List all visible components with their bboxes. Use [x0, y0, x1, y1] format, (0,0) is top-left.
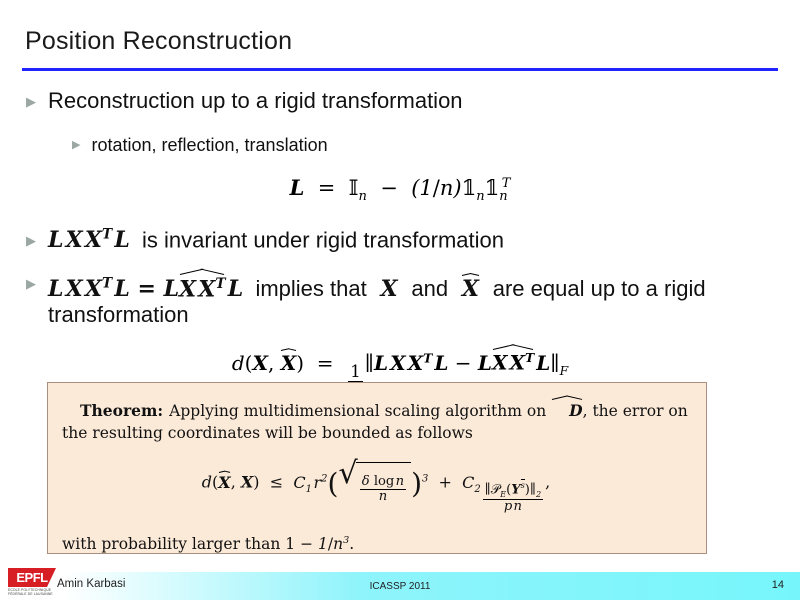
eq-distance-minus: − — [448, 351, 477, 375]
theorem-prob-part2: 1/n3 — [318, 535, 349, 553]
theorem-box: Theorem:Applying multidimensional scalin… — [47, 382, 707, 554]
eq-distance-xhat: X — [281, 351, 297, 375]
bullet-item-invariance: ▶ L X XT L is invariant under rigid tran… — [26, 227, 766, 253]
eq-laplacian-equals: = — [311, 176, 342, 200]
theorem-statement: Theorem:Applying multidimensional scalin… — [62, 396, 690, 444]
theorem-eq-r2: r2 — [313, 473, 327, 492]
theorem-statement-part1: Applying multidimensional scaling algori… — [169, 402, 546, 420]
bullet-item-reconstruction: ▶ Reconstruction up to a rigid transform… — [26, 88, 463, 114]
bullet-item-equality: ▶ L X XT L = LX XT L implies that X and … — [26, 270, 771, 328]
eq-distance-close: ) — [296, 351, 304, 375]
eq-distance-frobenius-sub: F — [560, 363, 569, 378]
theorem-equation: d(X, X) ≤ C1 r2(√δ log nn)3 + C2∥𝒫E(Ys)∥… — [62, 462, 690, 514]
theorem-eq-cube: 3 — [422, 473, 428, 484]
eq-distance-norm-close: ∥ — [550, 351, 559, 375]
eq-distance-term2: LX XT L — [478, 351, 550, 375]
theorem-eq-close: ) — [253, 473, 259, 492]
theorem-eq-fraction2: ∥𝒫E(Ys)∥2p n — [483, 479, 543, 514]
theorem-eq-xhat: X — [218, 473, 230, 492]
page-title: Position Reconstruction — [25, 27, 292, 56]
math-inline-xhat: X — [454, 276, 486, 302]
theorem-prob-minus: − — [300, 535, 313, 553]
theorem-eq-sqrt: √δ log nn — [338, 462, 411, 504]
theorem-label: Theorem: — [80, 401, 163, 420]
footer-page-number: 14 — [772, 579, 784, 591]
theorem-eq-paren-close: ) — [411, 467, 422, 500]
eq-laplacian-lhs: L — [290, 175, 305, 200]
theorem-eq-paren-open: ( — [327, 467, 338, 500]
theorem-symbol-dhat: D — [551, 401, 582, 420]
bullet-label-1: Reconstruction up to a rigid transformat… — [48, 88, 463, 114]
eq-laplacian-scale: (1/n) — [411, 176, 461, 200]
bullet-label-2: rotation, reflection, translation — [91, 135, 327, 156]
theorem-eq-plus: + — [433, 473, 457, 492]
theorem-probability-line: with probability larger than 1 − 1/n3. — [62, 534, 690, 554]
theorem-eq-leq: ≤ — [265, 473, 289, 492]
eq-laplacian-minus: − — [374, 176, 405, 200]
theorem-eq-trailing-comma: , — [545, 473, 550, 492]
eq-laplacian-identity: 𝕀n — [349, 176, 367, 200]
theorem-eq-comma1: , — [231, 473, 241, 492]
theorem-prob-period: . — [349, 535, 354, 553]
theorem-eq-sqrt-fraction: δ log nn — [360, 475, 406, 504]
triangle-bullet-icon: ▶ — [72, 140, 80, 151]
equation-laplacian: L = 𝕀n − (1/n)𝟙n𝟙nT — [0, 175, 800, 204]
triangle-bullet-icon: ▶ — [26, 234, 36, 247]
bullet-item-transformations: ▶ rotation, reflection, translation — [72, 135, 328, 156]
epfl-logo-subtext-line2: FÉDÉRALE DE LAUSANNE — [8, 592, 56, 596]
triangle-bullet-icon: ▶ — [26, 95, 36, 108]
bullet-label-3: L X XT L is invariant under rigid transf… — [48, 227, 504, 253]
eq-distance-norm-open: ∥ — [365, 351, 374, 375]
theorem-eq-d: d — [202, 473, 212, 492]
theorem-prob-part1: with probability larger than 1 — [62, 535, 295, 553]
math-inline-equality: L X XT L = LX XT L — [48, 276, 243, 302]
bullet-3-tail: is invariant under rigid transformation — [142, 227, 504, 252]
theorem-eq-x: X — [241, 473, 253, 492]
eq-distance-equals: = — [310, 351, 339, 375]
theorem-eq-c2: C2 — [462, 473, 481, 492]
bullet-4-and: and — [411, 276, 448, 301]
eq-distance-x: X — [252, 351, 268, 375]
math-inline-x: X — [373, 276, 405, 302]
eq-laplacian-ones: 𝟙n𝟙nT — [462, 176, 511, 200]
title-underline-rule — [22, 68, 778, 71]
bullet-4-mid: implies that — [255, 276, 366, 301]
eq-distance-comma: , — [268, 351, 281, 375]
theorem-eq-c1: C1 — [293, 473, 312, 492]
eq-distance-d: d — [232, 351, 245, 375]
triangle-bullet-icon: ▶ — [26, 277, 36, 290]
eq-distance-term1: L X XT L — [374, 351, 448, 375]
footer-conference: ICASSP 2011 — [0, 581, 800, 592]
bullet-label-4: L X XT L = LX XT L implies that X and X … — [48, 270, 771, 328]
math-inline-lxxtl: L X XT L — [48, 227, 130, 253]
